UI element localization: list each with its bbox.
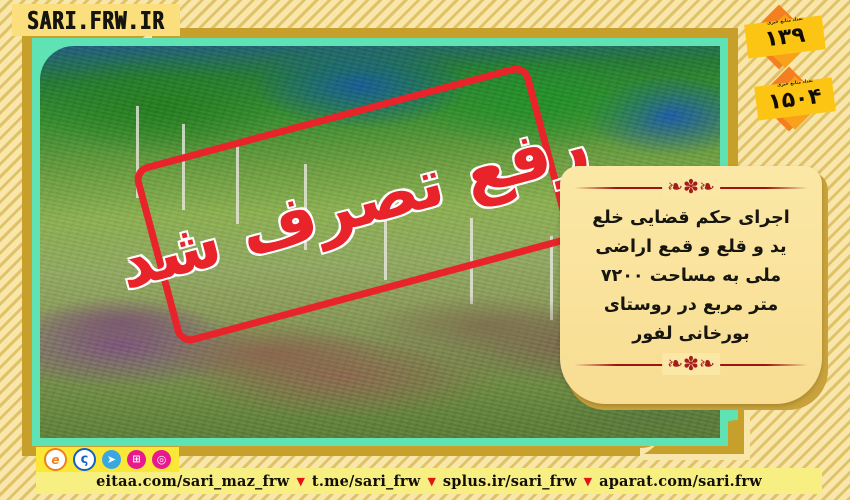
footer-separator: ▼	[296, 475, 304, 488]
ornament-glyph: ❧✽❧	[662, 353, 720, 375]
count-badge-2: تعداد منابع خبری ۱۵۰۴	[752, 70, 838, 128]
ornament-divider-top: ❧✽❧	[574, 176, 808, 198]
info-card-body: اجرای حکم قضایی خلع ید و قلع و قمع اراضی…	[560, 198, 822, 349]
info-line: ملی به مساحت ۷۲۰۰	[576, 262, 806, 291]
footer-separator: ▼	[584, 475, 592, 488]
info-line: بورخانی لفور	[576, 320, 806, 349]
info-line: ید و قلع و قمع اراضی	[576, 233, 806, 262]
site-logo-text: SARI.FRW.IR	[27, 5, 165, 35]
site-logo[interactable]: SARI.FRW.IR	[12, 4, 180, 36]
info-card: ❧✽❧ اجرای حکم قضایی خلع ید و قلع و قمع ا…	[560, 166, 822, 404]
info-line: متر مربع در روستای	[576, 291, 806, 320]
rubika-icon[interactable]: ⊞	[127, 450, 146, 469]
footer-link-telegram[interactable]: t.me/sari_frw	[312, 473, 421, 490]
ornament-divider-bottom: ❧✽❧	[574, 353, 808, 375]
telegram-icon[interactable]: ➤	[102, 450, 121, 469]
poster-canvas: SARI.FRW.IR رفع تصرف شد	[0, 0, 850, 500]
footer-link-splus[interactable]: splus.ir/sari_frw	[443, 473, 577, 490]
instagram-icon[interactable]: ◎	[152, 450, 171, 469]
footer-link-eitaa[interactable]: eitaa.com/sari_maz_frw	[96, 473, 289, 490]
footer-link-aparat[interactable]: aparat.com/sari.frw	[599, 473, 762, 490]
ornament-glyph: ❧✽❧	[662, 176, 720, 198]
bale-icon[interactable]: ς	[73, 448, 96, 471]
social-icon-strip: e ς ➤ ⊞ ◎	[36, 447, 179, 472]
info-line: اجرای حکم قضایی خلع	[576, 204, 806, 233]
count-badge-1: تعداد منابع خبری ۱۳۹	[742, 8, 828, 66]
footer-separator: ▼	[427, 475, 435, 488]
eitaa-icon[interactable]: e	[44, 448, 67, 471]
